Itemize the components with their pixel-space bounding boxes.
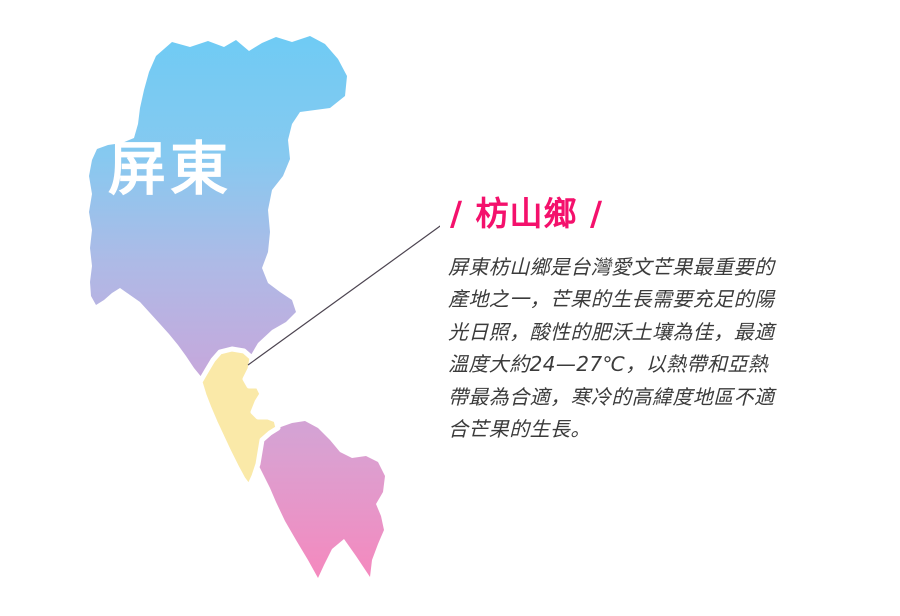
taiwan-pingtung-map: 屏東 xyxy=(0,0,440,616)
infographic-canvas: 屏東 / 枋山鄉 / 屏東枋山鄉是台灣愛文芒果最重要的 產地之一，芒果的生長需要… xyxy=(0,0,900,616)
description-line: 屏東枋山鄉是台灣愛文芒果最重要的 xyxy=(448,251,868,283)
description-line: 光日照，酸性的肥沃土壤為佳，最適 xyxy=(448,316,868,348)
info-panel: / 枋山鄉 / 屏東枋山鄉是台灣愛文芒果最重要的 產地之一，芒果的生長需要充足的… xyxy=(448,196,868,445)
county-outline-pingtung xyxy=(89,36,385,578)
description-line: 合芒果的生長。 xyxy=(448,413,868,445)
map-svg xyxy=(0,0,440,616)
description-line: 溫度大約24—27℃，以熱帶和亞熱 xyxy=(448,348,868,380)
info-title: / 枋山鄉 / xyxy=(450,196,868,233)
info-description: 屏東枋山鄉是台灣愛文芒果最重要的 產地之一，芒果的生長需要充足的陽 光日照，酸性… xyxy=(448,251,868,445)
description-line: 產地之一，芒果的生長需要充足的陽 xyxy=(448,283,868,315)
description-line: 帶最為合適，寒冷的高緯度地區不適 xyxy=(448,381,868,413)
